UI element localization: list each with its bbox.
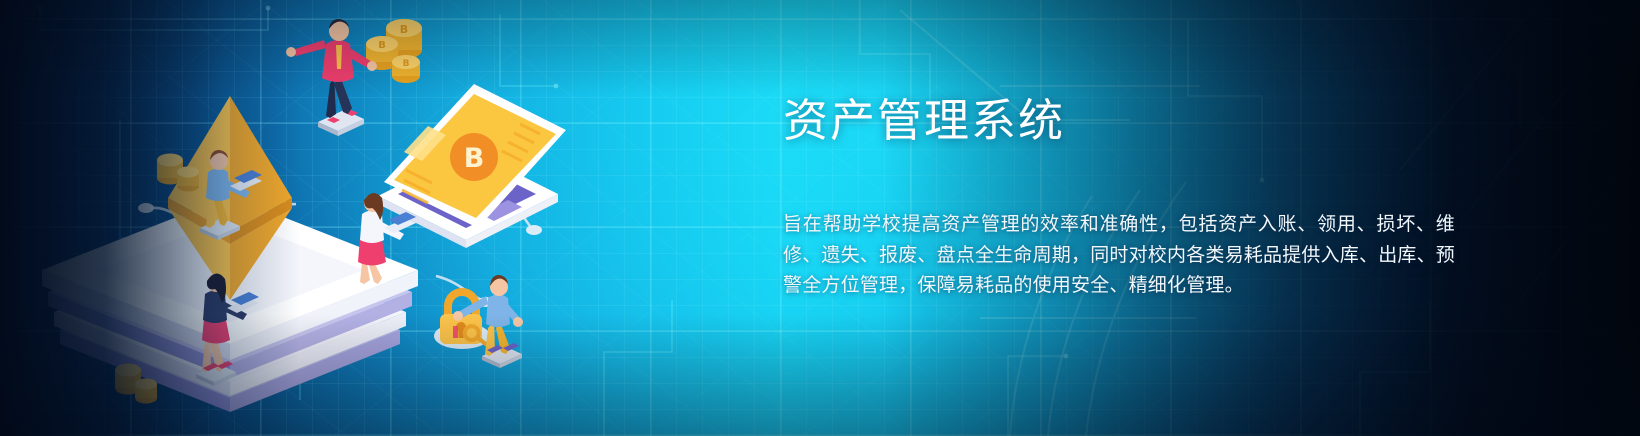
banner-copy-block: 资产管理系统 旨在帮助学校提高资产管理的效率和准确性，包括资产入账、领用、损坏、… (783, 92, 1483, 302)
page-title: 资产管理系统 (783, 92, 1483, 150)
asset-management-banner: B B B (0, 0, 1640, 436)
page-description: 旨在帮助学校提高资产管理的效率和准确性，包括资产入账、领用、损坏、维修、遗失、报… (783, 210, 1455, 302)
